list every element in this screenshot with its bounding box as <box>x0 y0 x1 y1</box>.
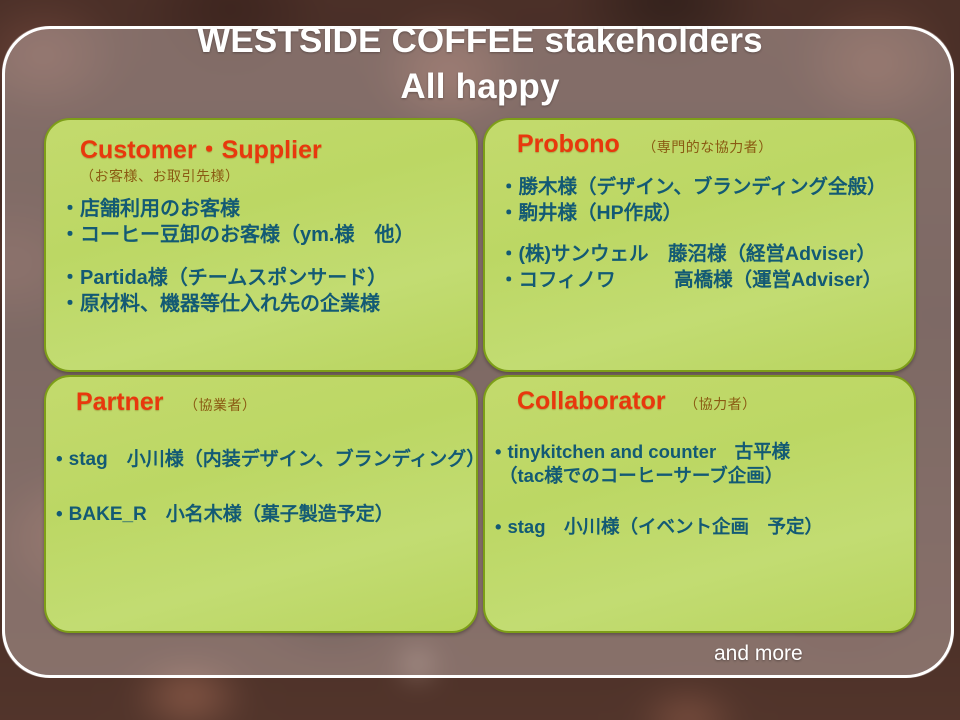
list-item: ・Partida様（チームスポンサード） <box>60 265 476 291</box>
list-spacer <box>499 226 914 242</box>
bullet-icon: ・ <box>499 202 519 224</box>
panel-body-partner: •stag 小川様（内装デザイン、ブランディング） •BAKE_R 小名木様（菓… <box>46 447 476 527</box>
list-item-label: 原材料、機器等仕入れ先の企業様 <box>80 293 380 315</box>
panel-collaborator[interactable]: Collaborator （協力者） •tinykitchen and coun… <box>483 375 916 633</box>
list-item: •stag 小川様（イベント企画 予定） <box>495 515 914 539</box>
list-item: ・原材料、機器等仕入れ先の企業様 <box>60 291 476 317</box>
bullet-icon: ・ <box>60 224 80 246</box>
list-item-label: tinykitchen and counter 古平様 <box>507 441 790 462</box>
bullet-icon: • <box>495 516 501 537</box>
list-spacer <box>56 472 476 502</box>
bullet-icon: ・ <box>60 293 80 315</box>
panel-header-collaborator: Collaborator （協力者） <box>485 377 914 416</box>
bullet-icon: • <box>56 449 63 470</box>
bullet-icon: • <box>495 441 501 462</box>
panel-heading-ja-customer-supplier: （お客様、お取引先様） <box>80 166 476 186</box>
list-item-label: コーヒー豆卸のお客様（ym.様 他） <box>80 224 414 246</box>
panel-heading-ja-collaborator: （協力者） <box>684 396 757 412</box>
panel-body-customer-supplier: ・店舗利用のお客様 ・コーヒー豆卸のお客様（ym.様 他） ・Partida様（… <box>46 196 476 318</box>
panel-heading-ja-probono: （専門的な協力者） <box>642 139 773 155</box>
panel-partner[interactable]: Partner （協業者） •stag 小川様（内装デザイン、ブランディング） … <box>44 375 478 633</box>
bullet-icon: ・ <box>60 267 80 289</box>
panel-heading-en-customer-supplier: Customer・Supplier <box>80 130 476 166</box>
list-item: ・コフィノワ 高橋様（運営Adviser） <box>499 268 914 294</box>
panel-body-collaborator: •tinykitchen and counter 古平様 （tac様でのコーヒー… <box>485 440 914 539</box>
bullet-icon: ・ <box>499 269 519 291</box>
list-spacer <box>60 249 476 265</box>
list-item-label: コフィノワ 高橋様（運営Adviser） <box>519 269 883 291</box>
panel-heading-en-partner: Partner <box>76 388 164 416</box>
bullet-icon: ・ <box>499 176 519 198</box>
footer-note-and-more: and more <box>714 642 803 666</box>
list-item: •stag 小川様（内装デザイン、ブランディング） <box>56 447 476 472</box>
list-item-label: (株)サンウェル 藤沼様（経営Adviser） <box>519 243 877 265</box>
list-item-label: stag 小川様（内装デザイン、ブランディング） <box>69 449 478 470</box>
panel-header-partner: Partner （協業者） <box>46 377 476 417</box>
page-title: WESTSIDE COFFEE stakeholders All happy <box>0 18 960 110</box>
list-item: ・コーヒー豆卸のお客様（ym.様 他） <box>60 222 476 248</box>
list-item-label: 駒井様（HP作成） <box>519 202 683 224</box>
panel-probono[interactable]: Probono （専門的な協力者） ・勝木様（デザイン、ブランディング全般） ・… <box>483 118 916 372</box>
list-item-label: Partida様（チームスポンサード） <box>80 267 387 289</box>
panel-header-customer-supplier: Customer・Supplier （お客様、お取引先様） <box>46 120 476 186</box>
list-item: ・駒井様（HP作成） <box>499 201 914 227</box>
slide-canvas: WESTSIDE COFFEE stakeholders All happy C… <box>0 0 960 720</box>
bullet-icon: ・ <box>499 243 519 265</box>
list-item-label: 勝木様（デザイン、ブランディング全般） <box>519 176 887 198</box>
list-item: ・勝木様（デザイン、ブランディング全般） <box>499 175 914 201</box>
list-item-label: BAKE_R 小名木様（菓子製造予定） <box>69 504 394 525</box>
list-item: ・店舗利用のお客様 <box>60 196 476 222</box>
panel-customer-supplier[interactable]: Customer・Supplier （お客様、お取引先様） ・店舗利用のお客様 … <box>44 118 478 372</box>
list-item-label: （tac様でのコーヒーサーブ企画） <box>499 465 783 486</box>
panel-heading-en-probono: Probono <box>517 130 620 158</box>
panel-heading-ja-partner: （協業者） <box>184 397 257 413</box>
list-item: •BAKE_R 小名木様（菓子製造予定） <box>56 502 476 527</box>
list-item-label: stag 小川様（イベント企画 予定） <box>507 516 823 537</box>
title-line-2: All happy <box>0 64 960 110</box>
panel-body-probono: ・勝木様（デザイン、ブランディング全般） ・駒井様（HP作成） ・(株)サンウェ… <box>485 175 914 294</box>
panel-heading-en-collaborator: Collaborator <box>517 387 666 415</box>
bullet-icon: • <box>56 504 63 525</box>
list-item-continuation: （tac様でのコーヒーサーブ企画） <box>495 464 914 488</box>
title-line-1: WESTSIDE COFFEE stakeholders <box>197 21 763 60</box>
list-item: ・(株)サンウェル 藤沼様（経営Adviser） <box>499 242 914 268</box>
panel-header-probono: Probono （専門的な協力者） <box>485 120 914 159</box>
list-item: •tinykitchen and counter 古平様 <box>495 440 914 464</box>
list-item-label: 店舗利用のお客様 <box>80 198 240 220</box>
list-spacer <box>495 489 914 515</box>
bullet-icon: ・ <box>60 198 80 220</box>
